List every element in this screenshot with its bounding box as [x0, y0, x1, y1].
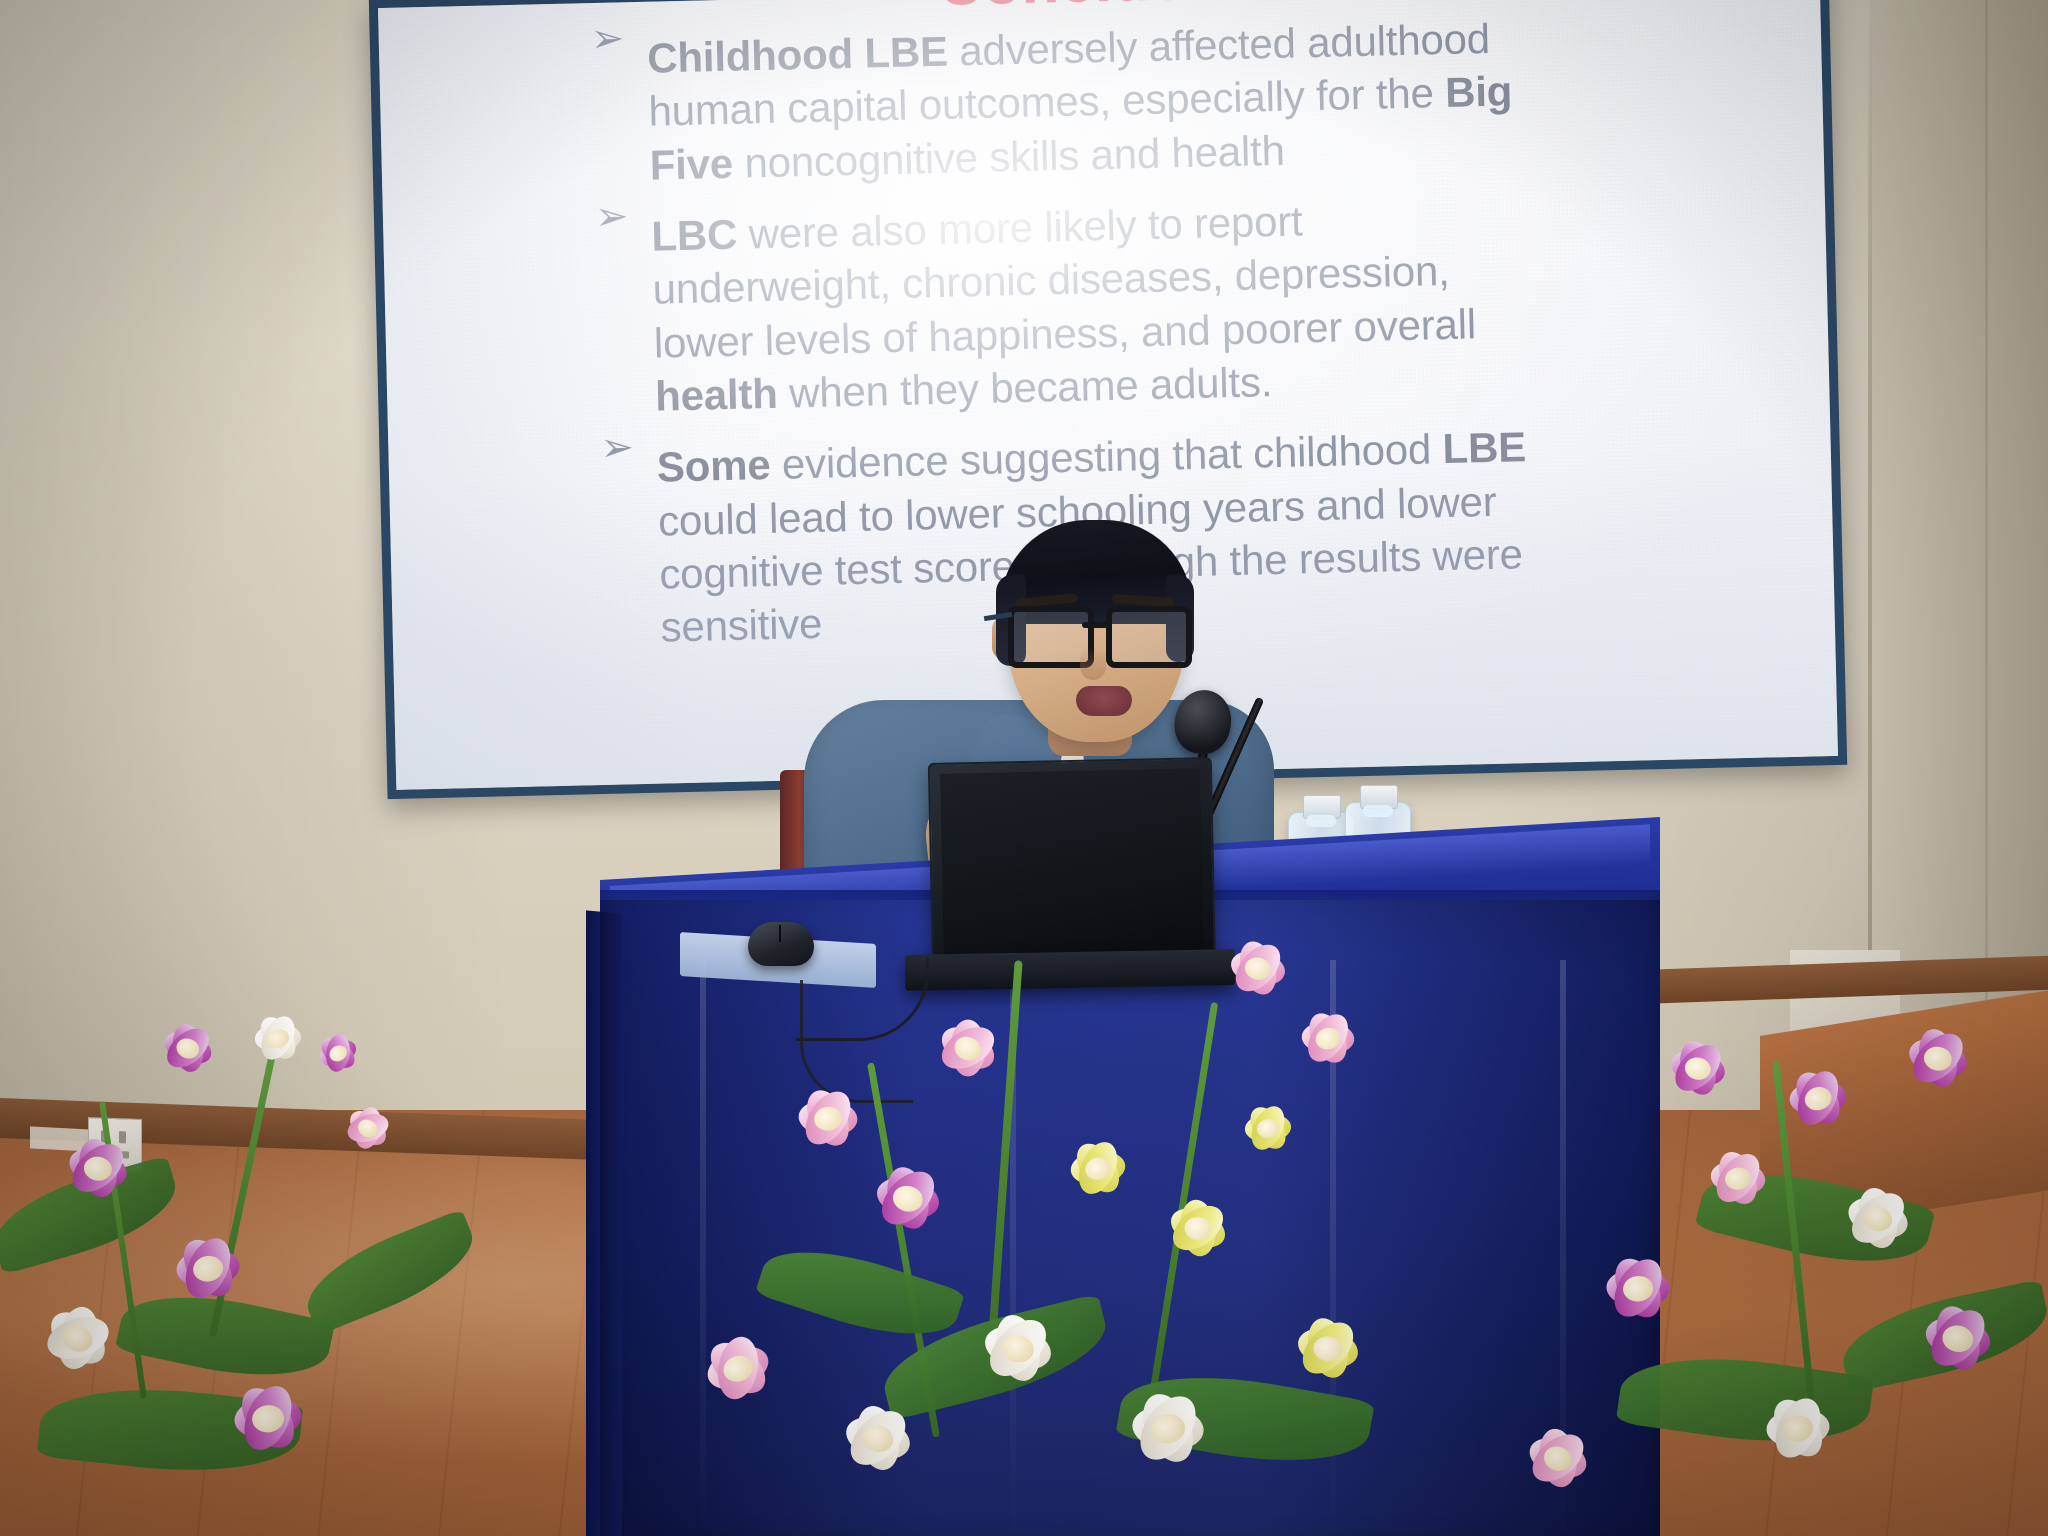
- cloth-fold: [1330, 960, 1336, 1536]
- bullet-2-text: LBC were also more likely to report unde…: [651, 186, 1658, 423]
- presenter-nose: [1080, 646, 1106, 680]
- presenter-mouth: [1076, 686, 1132, 716]
- presentation-scene: Conclusion ➢ Childhood LBE adversely aff…: [0, 0, 2048, 1536]
- mouse-cable-loop: [800, 980, 913, 1103]
- laptop-screen-lid[interactable]: [928, 757, 1216, 977]
- outlet-ground-slot: [103, 1151, 129, 1159]
- glasses-bridge: [1082, 622, 1108, 628]
- bottle-neck: [1363, 805, 1393, 817]
- bullet-1-text: Childhood LBE adversely affected adultho…: [647, 8, 1652, 192]
- laptop-keyboard-base[interactable]: [905, 949, 1236, 991]
- bottle-neck: [1306, 815, 1336, 827]
- slide-bullet-2: ➢ LBC were also more likely to report un…: [533, 186, 1658, 426]
- table-shading: [600, 900, 1660, 1536]
- cloth-fold: [1560, 960, 1566, 1536]
- power-outlet-icon: [88, 1117, 142, 1173]
- cloth-fold: [1010, 960, 1016, 1536]
- glasses-lens-right: [1106, 606, 1192, 668]
- mouse-button-divider: [779, 925, 781, 942]
- slide-bullet-1: ➢ Childhood LBE adversely affected adult…: [529, 8, 1652, 194]
- laptop-display[interactable]: [940, 768, 1204, 962]
- cloth-fold: [700, 960, 706, 1536]
- wall-tape: [30, 1126, 92, 1151]
